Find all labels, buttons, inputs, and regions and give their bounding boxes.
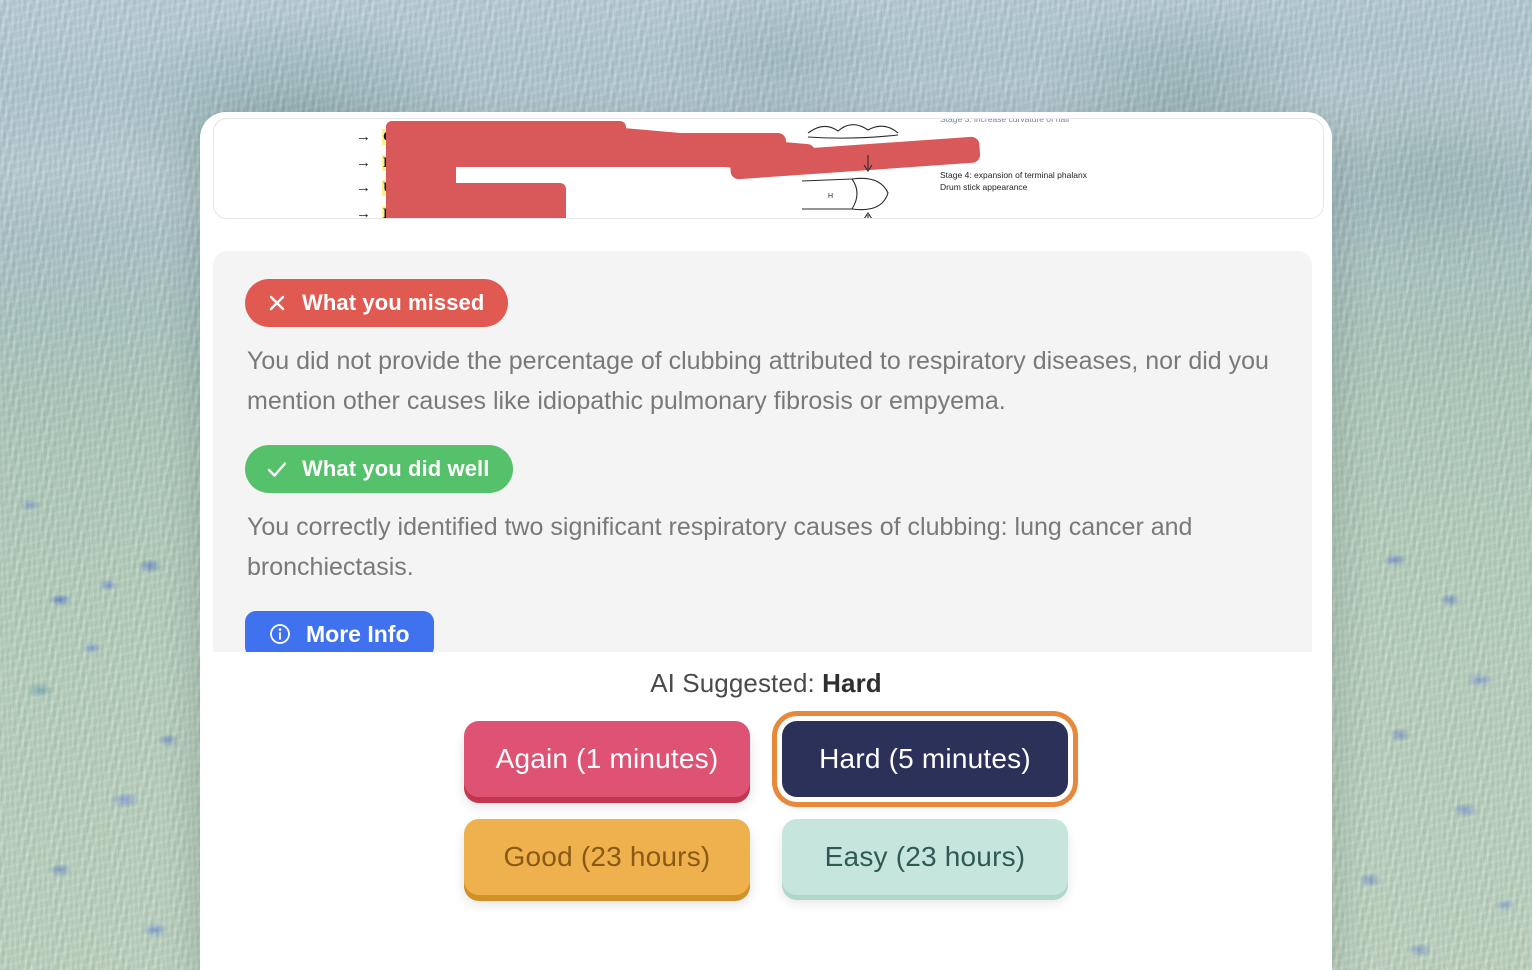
- info-circle-icon: [269, 623, 293, 647]
- status-badge-well: What you did well: [245, 445, 513, 493]
- check-icon: [266, 458, 288, 480]
- figure-stage4-caption: Stage 4: expansion of terminal phalanx D…: [940, 169, 1190, 193]
- feedback-card: What you missed You did not provide the …: [213, 251, 1312, 652]
- arrow-icon: →: [356, 125, 382, 151]
- app-window: →C →L →U →Bi →B: [200, 112, 1332, 970]
- card-media-image[interactable]: →C →L →U →Bi →B: [213, 118, 1324, 219]
- more-info-button[interactable]: More Info: [245, 611, 434, 652]
- status-badge-missed: What you missed: [245, 279, 508, 327]
- rating-button-good[interactable]: Good (23 hours): [464, 819, 750, 895]
- feedback-missed-body: You did not provide the percentage of cl…: [247, 341, 1277, 421]
- spacer: [245, 421, 1282, 445]
- close-icon: [266, 292, 288, 314]
- rating-button-hard[interactable]: Hard (5 minutes): [782, 721, 1068, 797]
- scrollable-content-region[interactable]: →C →L →U →Bi →B: [200, 112, 1332, 652]
- arrow-icon: →: [356, 176, 382, 202]
- figure-stage4-drawing: H: [800, 153, 940, 219]
- slide-canvas: →C →L →U →Bi →B: [260, 118, 1270, 219]
- arrow-icon: →: [356, 202, 382, 220]
- rating-button-again[interactable]: Again (1 minutes): [464, 721, 750, 797]
- status-badge-well-label: What you did well: [302, 456, 489, 482]
- status-badge-missed-label: What you missed: [302, 290, 484, 316]
- ai-suggested-prefix: AI Suggested:: [650, 668, 815, 698]
- more-info-label: More Info: [306, 621, 410, 648]
- nail-curvature-icon: [806, 118, 926, 141]
- feedback-well-body: You correctly identified two significant…: [247, 507, 1277, 587]
- rating-button-grid: Again (1 minutes) Hard (5 minutes) Good …: [464, 721, 1068, 895]
- drumstick-finger-icon: H: [800, 153, 940, 219]
- rating-button-easy[interactable]: Easy (23 hours): [782, 819, 1068, 895]
- redaction-mark: [386, 183, 566, 219]
- ai-suggested-label: AI Suggested: Hard: [650, 668, 882, 699]
- ai-suggested-value: Hard: [822, 668, 882, 698]
- rating-footer: AI Suggested: Hard Again (1 minutes) Har…: [200, 652, 1332, 970]
- figure-stage3-drawing: [806, 118, 926, 141]
- arrow-icon: →: [356, 151, 382, 177]
- figure-stage3-caption: Stage 3: increase curvature of nail: [940, 118, 1160, 125]
- svg-text:H: H: [828, 193, 833, 200]
